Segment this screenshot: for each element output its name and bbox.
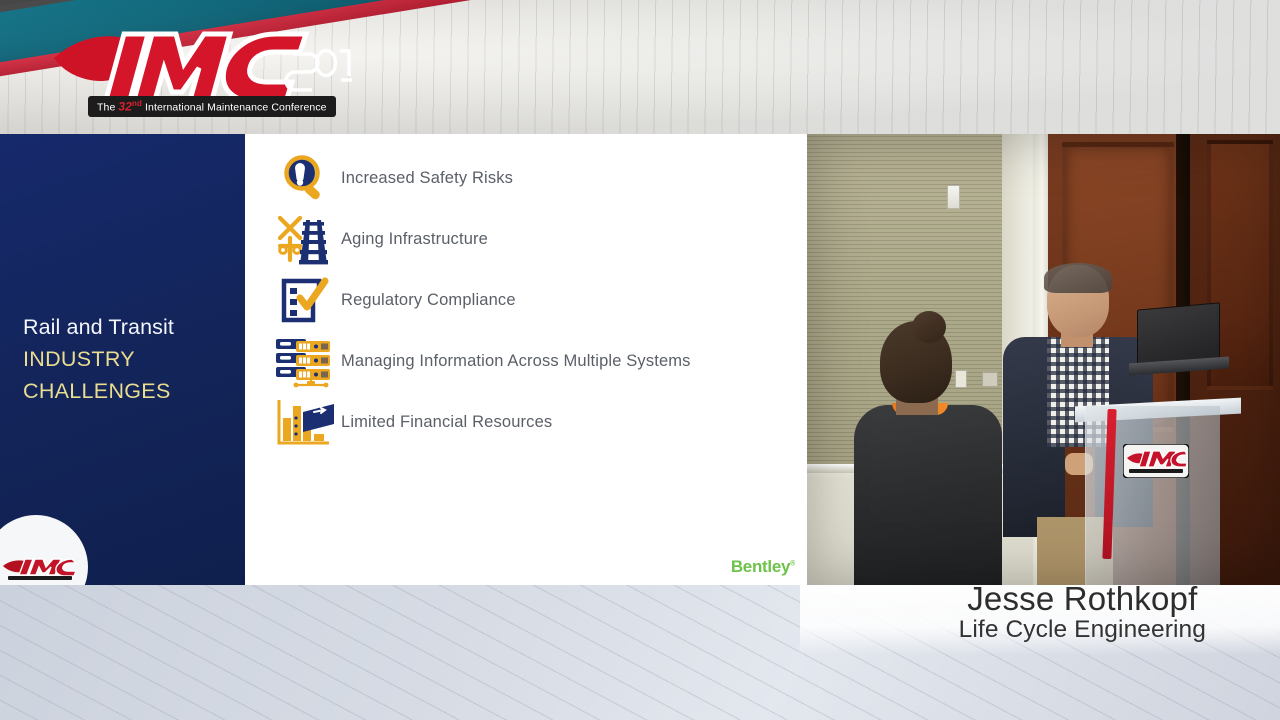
tagline-number: 32 — [118, 100, 132, 114]
slide-title-block: Rail and Transit INDUSTRY CHALLENGES — [23, 312, 238, 407]
slide-title-line-2: INDUSTRY — [23, 343, 238, 375]
list-item[interactable]: Increased Safety Risks — [267, 148, 807, 209]
speaker-footer-bar: Jesse Rothkopf Life Cycle Engineering — [0, 585, 1280, 720]
list-item[interactable]: Limited Financial Resources — [267, 392, 807, 453]
bentley-logo: Bentley® — [731, 557, 795, 577]
tagline-ordinal: nd — [132, 99, 142, 108]
railroad-crossing-icon — [267, 212, 341, 268]
list-item[interactable]: Aging Infrastructure — [267, 209, 807, 270]
list-item-label: Aging Infrastructure — [341, 230, 488, 249]
list-item-label: Increased Safety Risks — [341, 169, 513, 188]
magnifier-alert-icon — [267, 153, 341, 205]
attendee-person — [854, 321, 1002, 585]
imc-badge-logo — [0, 515, 88, 585]
podium-imc-logo — [1123, 444, 1189, 478]
presentation-player: The 32nd International Maintenance Confe… — [0, 0, 1280, 720]
speaker-organization: Life Cycle Engineering — [959, 617, 1206, 642]
challenges-list: Increased Safety Risks — [267, 148, 807, 453]
attendee-shirt — [854, 405, 1002, 585]
list-item[interactable]: Regulatory Compliance — [267, 270, 807, 331]
event-header-banner: The 32nd International Maintenance Confe… — [0, 0, 1280, 134]
list-item-label: Limited Financial Resources — [341, 413, 552, 432]
slide-area[interactable]: Rail and Transit INDUSTRY CHALLENGES — [0, 134, 807, 585]
wall-thermostat — [947, 185, 960, 209]
servers-network-icon — [267, 335, 341, 389]
list-item[interactable]: Managing Information Across Multiple Sys… — [267, 331, 807, 392]
slide-title-panel: Rail and Transit INDUSTRY CHALLENGES — [0, 134, 245, 585]
slide-title-line-1: Rail and Transit — [23, 312, 238, 343]
imc-tagline: The 32nd International Maintenance Confe… — [88, 96, 336, 117]
presenter-hair — [1044, 263, 1112, 293]
tagline-suffix: International Maintenance Conference — [142, 102, 327, 114]
speaker-video-feed[interactable] — [807, 134, 1280, 585]
bentley-logo-text: Bentley — [731, 557, 790, 576]
slide-title-line-3: CHALLENGES — [23, 375, 238, 407]
speaker-name: Jesse Rothkopf — [959, 585, 1206, 616]
speaker-info: Jesse Rothkopf Life Cycle Engineering — [959, 585, 1206, 642]
list-item-label: Managing Information Across Multiple Sys… — [341, 352, 691, 371]
attendee-hair-bun — [912, 311, 946, 343]
slide-content-panel: Increased Safety Risks — [245, 134, 807, 585]
bar-chart-money-icon — [267, 398, 341, 448]
checklist-check-icon — [267, 276, 341, 326]
tagline-prefix: The — [97, 102, 118, 114]
list-item-label: Regulatory Compliance — [341, 291, 516, 310]
